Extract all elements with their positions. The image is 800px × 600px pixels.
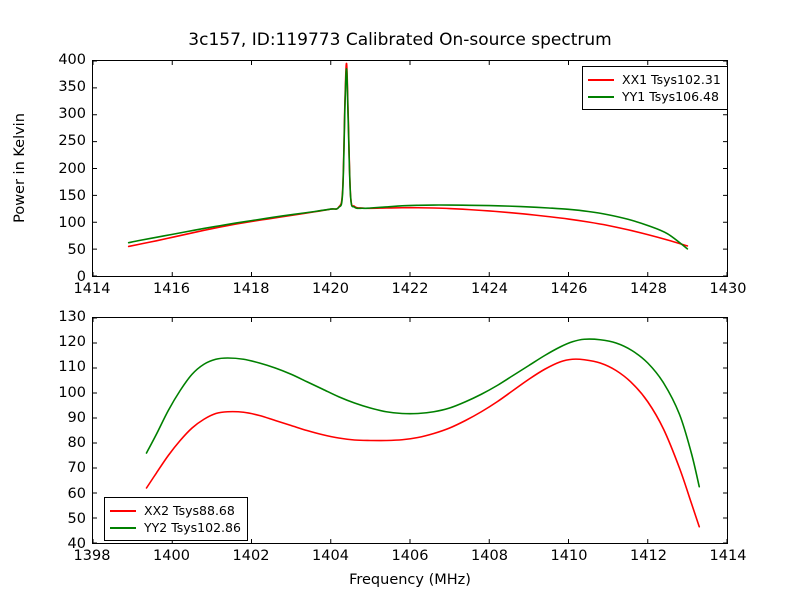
top-panel-legend: XX1 Tsys102.31 YY1 Tsys106.48 [582, 66, 728, 110]
x-tick-label: 1408 [471, 548, 508, 564]
figure-title: 3c157, ID:119773 Calibrated On-source sp… [0, 30, 800, 50]
y-tick-label: 50 [38, 242, 86, 258]
x-tick-label: 1404 [312, 548, 349, 564]
y-tick-label: 60 [38, 486, 86, 502]
data-series-line [146, 339, 699, 487]
bottom-panel-x-axis-label: Frequency (MHz) [349, 572, 471, 588]
x-tick-label: 1426 [551, 281, 588, 297]
bottom-panel-legend: XX2 Tsys88.68 YY2 Tsys102.86 [104, 497, 248, 541]
legend-label-yy2: YY2 Tsys102.86 [144, 520, 241, 535]
y-tick-label: 100 [38, 385, 86, 401]
x-tick-label: 1424 [471, 281, 508, 297]
y-tick-label: 130 [38, 309, 86, 325]
x-tick-label: 1422 [392, 281, 429, 297]
y-tick-label: 350 [38, 79, 86, 95]
y-tick-label: 150 [38, 188, 86, 204]
y-tick-label: 40 [38, 536, 86, 552]
x-tick-label: 1406 [392, 548, 429, 564]
top-panel-y-axis-label: Power in Kelvin [12, 113, 28, 223]
x-tick-label: 1418 [233, 281, 270, 297]
matplotlib-figure: 3c157, ID:119773 Calibrated On-source sp… [0, 0, 800, 600]
legend-label-xx2: XX2 Tsys88.68 [144, 503, 235, 518]
legend-line-swatch-yy2 [110, 527, 136, 529]
legend-item: YY1 Tsys106.48 [588, 88, 721, 105]
legend-item: YY2 Tsys102.86 [110, 519, 241, 536]
x-tick-label: 1416 [153, 281, 190, 297]
y-tick-label: 70 [38, 460, 86, 476]
y-tick-label: 300 [38, 106, 86, 122]
y-tick-label: 250 [38, 133, 86, 149]
legend-label-xx1: XX1 Tsys102.31 [622, 72, 721, 87]
y-tick-label: 400 [38, 52, 86, 68]
legend-line-swatch-yy1 [588, 96, 614, 98]
x-tick-label: 1420 [312, 281, 349, 297]
x-tick-label: 1400 [153, 548, 190, 564]
legend-label-yy1: YY1 Tsys106.48 [622, 89, 719, 104]
y-tick-label: 90 [38, 410, 86, 426]
x-tick-label: 1430 [710, 281, 747, 297]
x-tick-label: 1414 [710, 548, 747, 564]
x-tick-label: 1402 [233, 548, 270, 564]
y-tick-label: 80 [38, 435, 86, 451]
legend-item: XX1 Tsys102.31 [588, 71, 721, 88]
y-tick-label: 120 [38, 334, 86, 350]
x-tick-label: 1428 [630, 281, 667, 297]
y-tick-label: 110 [38, 359, 86, 375]
x-tick-label: 1410 [551, 548, 588, 564]
y-tick-label: 200 [38, 161, 86, 177]
legend-line-swatch-xx2 [110, 510, 136, 512]
x-tick-label: 1412 [630, 548, 667, 564]
legend-line-swatch-xx1 [588, 79, 614, 81]
y-tick-label: 50 [38, 511, 86, 527]
legend-item: XX2 Tsys88.68 [110, 502, 241, 519]
y-tick-label: 0 [38, 269, 86, 285]
y-tick-label: 100 [38, 215, 86, 231]
